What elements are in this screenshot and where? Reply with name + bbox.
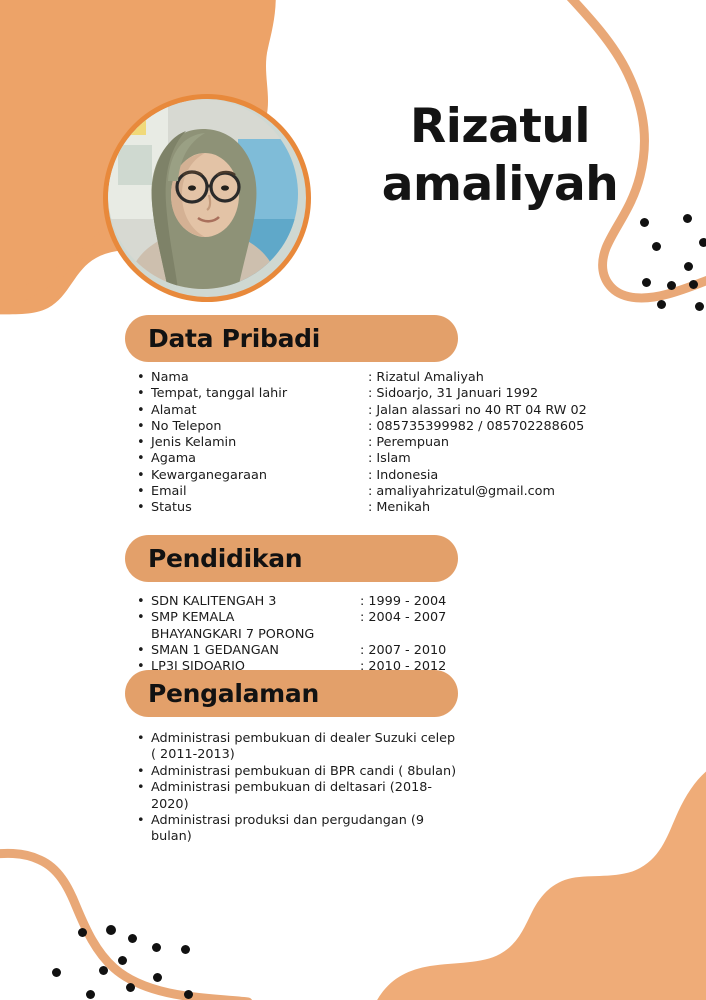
personal-label: Alamat — [151, 403, 368, 419]
avatar-image — [108, 99, 306, 297]
list-item: • Administrasi pembukuan di dealer Suzuk… — [137, 731, 457, 764]
decor-dot — [128, 934, 137, 943]
bullet-icon: • — [137, 403, 151, 419]
decor-dot — [652, 242, 661, 251]
bullet-icon: • — [137, 813, 151, 829]
personal-label: No Telepon — [151, 419, 368, 435]
bullet-icon: • — [137, 435, 151, 451]
section-header-experience: Pengalaman — [125, 670, 458, 717]
personal-value: Menikah — [368, 500, 597, 516]
decor-dot — [699, 238, 706, 247]
personal-row: • Status Menikah — [137, 500, 597, 516]
education-row: • SDN KALITENGAH 3 1999 - 2004 — [137, 594, 597, 610]
education-period: 2004 - 2007 — [360, 610, 597, 626]
experience-text: Administrasi pembukuan di BPR candi ( 8b… — [151, 764, 457, 780]
bullet-icon: • — [137, 419, 151, 435]
decor-dot — [684, 262, 693, 271]
personal-label: Jenis Kelamin — [151, 435, 368, 451]
decor-dot — [695, 302, 704, 311]
personal-row: • Email amaliyahrizatul@gmail.com — [137, 484, 597, 500]
section-header-personal: Data Pribadi — [125, 315, 458, 362]
decor-dot — [181, 945, 190, 954]
avatar — [103, 94, 311, 302]
decor-dot — [126, 983, 135, 992]
education-rows: • SDN KALITENGAH 3 1999 - 2004 • SMP KEM… — [137, 594, 597, 675]
personal-value: Rizatul Amaliyah — [368, 370, 597, 386]
bullet-icon: • — [137, 500, 151, 516]
section-header-personal-label: Data Pribadi — [125, 324, 320, 353]
personal-value: 085735399982 / 085702288605 — [368, 419, 597, 435]
bullet-icon: • — [137, 610, 151, 626]
personal-row: • Agama Islam — [137, 451, 597, 467]
decor-dot — [118, 956, 127, 965]
education-row: • SMAN 1 GEDANGAN 2007 - 2010 — [137, 643, 597, 659]
experience-text: Administrasi pembukuan di dealer Suzuki … — [151, 731, 457, 764]
personal-row: • Alamat Jalan alassari no 40 RT 04 RW 0… — [137, 403, 597, 419]
bullet-icon: • — [137, 643, 151, 659]
personal-value: amaliyahrizatul@gmail.com — [368, 484, 597, 500]
personal-value: Perempuan — [368, 435, 597, 451]
personal-label: Tempat, tanggal lahir — [151, 386, 368, 402]
list-item: • Administrasi pembukuan di deltasari (2… — [137, 780, 457, 813]
personal-value: Indonesia — [368, 468, 597, 484]
decor-dot — [657, 300, 666, 309]
bullet-spacer — [137, 627, 151, 643]
bottom-left-outline-icon — [0, 853, 248, 1000]
decor-dot — [52, 968, 61, 977]
experience-text: Administrasi produksi dan pergudangan (9… — [151, 813, 457, 846]
education-school-sub: BHAYANGKARI 7 PORONG — [137, 627, 597, 643]
personal-row: • Tempat, tanggal lahir Sidoarjo, 31 Jan… — [137, 386, 597, 402]
personal-label: Email — [151, 484, 368, 500]
bullet-icon: • — [137, 764, 151, 780]
experience-text: Administrasi pembukuan di deltasari (201… — [151, 780, 457, 813]
bullet-icon: • — [137, 370, 151, 386]
section-header-experience-label: Pengalaman — [125, 679, 319, 708]
bullet-icon: • — [137, 780, 151, 796]
profile-photo-icon — [108, 99, 298, 289]
education-row: • SMP KEMALA 2004 - 2007 — [137, 610, 597, 626]
section-header-education-label: Pendidikan — [125, 544, 302, 573]
personal-label: Kewarganegaraan — [151, 468, 368, 484]
decor-dot — [78, 928, 87, 937]
bullet-icon: • — [137, 484, 151, 500]
education-school: SDN KALITENGAH 3 — [151, 594, 360, 610]
cv-page: Rizatul amaliyah • SDN KALITENGAH 3 1999… — [0, 0, 706, 1000]
decor-dot — [99, 966, 108, 975]
bullet-icon: • — [137, 451, 151, 467]
bullet-icon: • — [137, 468, 151, 484]
decor-dot — [667, 281, 676, 290]
personal-value: Islam — [368, 451, 597, 467]
decor-dot — [640, 218, 649, 227]
experience-list: • Administrasi pembukuan di dealer Suzuk… — [137, 731, 457, 846]
left-notch-blob-icon — [0, 226, 104, 316]
personal-row: • No Telepon 085735399982 / 085702288605 — [137, 419, 597, 435]
bullet-icon: • — [137, 386, 151, 402]
education-period: 2007 - 2010 — [360, 643, 597, 659]
decor-dot — [683, 214, 692, 223]
education-school-sub-text: BHAYANGKARI 7 PORONG — [151, 627, 314, 643]
page-title: Rizatul amaliyah — [330, 98, 670, 214]
decor-dot — [86, 990, 95, 999]
decor-dot — [153, 973, 162, 982]
personal-value: Sidoarjo, 31 Januari 1992 — [368, 386, 597, 402]
personal-value: Jalan alassari no 40 RT 04 RW 02 — [368, 403, 597, 419]
decor-dot — [184, 990, 193, 999]
decor-dot — [106, 925, 116, 935]
education-period: 1999 - 2004 — [360, 594, 597, 610]
personal-rows: • Nama Rizatul Amaliyah • Tempat, tangga… — [137, 370, 597, 517]
personal-label: Nama — [151, 370, 368, 386]
personal-label: Agama — [151, 451, 368, 467]
bullet-icon: • — [137, 594, 151, 610]
education-school: SMAN 1 GEDANGAN — [151, 643, 360, 659]
list-item: • Administrasi produksi dan pergudangan … — [137, 813, 457, 846]
decor-dot — [689, 280, 698, 289]
decor-dot — [152, 943, 161, 952]
personal-row: • Kewarganegaraan Indonesia — [137, 468, 597, 484]
education-school: SMP KEMALA — [151, 610, 360, 626]
decor-dot — [642, 278, 651, 287]
name-line-first: Rizatul — [330, 98, 670, 156]
name-line-last: amaliyah — [330, 156, 670, 214]
personal-row: • Nama Rizatul Amaliyah — [137, 370, 597, 386]
bullet-icon: • — [137, 731, 151, 747]
personal-label: Status — [151, 500, 368, 516]
section-header-education: Pendidikan — [125, 535, 458, 582]
personal-row: • Jenis Kelamin Perempuan — [137, 435, 597, 451]
list-item: • Administrasi pembukuan di BPR candi ( … — [137, 764, 457, 780]
